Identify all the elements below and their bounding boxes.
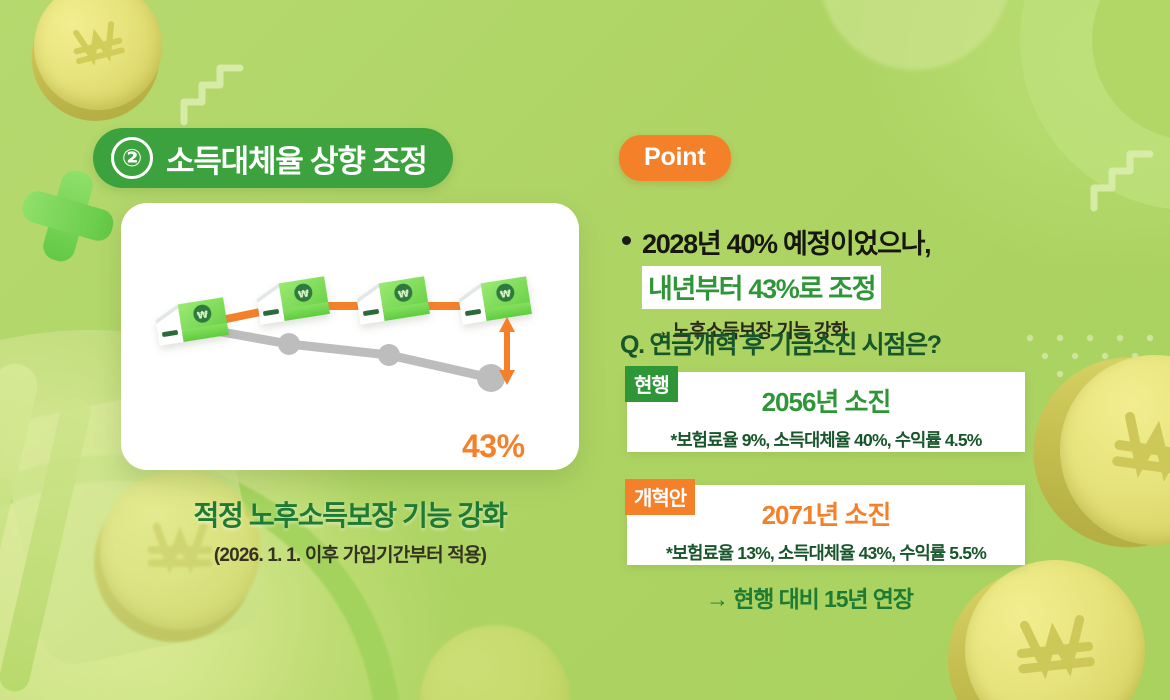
chart-label-43: 43% — [462, 428, 525, 465]
won-coin-top-left — [20, 0, 175, 124]
panel-current-note: *보험료율 9%, 소득대체율 40%, 수익률 4.5% — [627, 427, 1025, 452]
line-chart: ₩ ₩ — [121, 203, 579, 470]
decor-stairs-left — [178, 62, 244, 134]
panel-reform-note: *보험료율 13%, 소득대체율 43%, 수익률 5.5% — [627, 540, 1025, 565]
section-title-pill: ② 소득대체율 상향 조정 — [93, 128, 453, 188]
caption-headline: 적정 노후소득보장 기능 강화 — [121, 494, 579, 534]
decor-bar2-bottom-left — [0, 395, 93, 694]
decor-arc-top-right-inner — [1092, 0, 1170, 140]
decor-bar-bottom-left — [0, 359, 42, 700]
chart-caption: 적정 노후소득보장 기능 강화 (2026. 1. 1. 이후 가입기간부터 적… — [121, 494, 579, 567]
caption-subnote: (2026. 1. 1. 이후 가입기간부터 적용) — [121, 540, 579, 567]
money-bundle-marker-2028: ₩ — [457, 276, 532, 324]
svg-text:₩: ₩ — [297, 288, 310, 301]
panel-current: 2056년 소진 *보험료율 9%, 소득대체율 40%, 수익률 4.5% — [627, 372, 1025, 452]
decor-stairs-right — [1088, 148, 1154, 220]
svg-text:₩: ₩ — [196, 309, 209, 322]
point-line-1: 2028년 40% 예정이었으나, — [642, 222, 930, 261]
page-title: 소득대체율 상향 조정 — [166, 136, 427, 181]
svg-text:₩: ₩ — [397, 288, 410, 301]
bullet-dot-icon — [622, 236, 631, 245]
svg-text:₩: ₩ — [499, 288, 512, 301]
decor-blob-top — [820, 0, 1010, 70]
section-number: ② — [111, 137, 153, 179]
decor-arc-bottom-left — [0, 455, 402, 700]
decor-dot-grid — [1022, 330, 1162, 400]
money-bundle-marker-2026: ₩ — [255, 276, 330, 324]
infographic-canvas: ② 소득대체율 상향 조정 — [0, 0, 1170, 700]
point-badge: Point — [619, 135, 731, 181]
qa-question: Q. 연금개혁 후 기금소진 시점은? — [620, 325, 941, 361]
decor-arc-top-right — [1020, 0, 1170, 210]
panel-current-headline: 2056년 소진 — [627, 382, 1025, 419]
won-coin-bottom-right — [956, 551, 1154, 700]
won-coin-bottom-center — [420, 625, 570, 700]
series-reform-line — [188, 306, 491, 327]
point-highlight: 내년부터 43%로 조정 — [642, 266, 881, 309]
money-bundle-marker-2025: ₩ — [154, 297, 229, 345]
chart-card: ₩ ₩ — [121, 203, 579, 470]
qa-conclusion: → 현행 대비 15년 연장 — [706, 580, 913, 614]
tag-reform: 개혁안 — [625, 479, 695, 515]
money-bundle-marker-2027: ₩ — [355, 276, 430, 324]
won-coin-right — [1048, 343, 1170, 558]
tag-current: 현행 — [625, 366, 678, 402]
